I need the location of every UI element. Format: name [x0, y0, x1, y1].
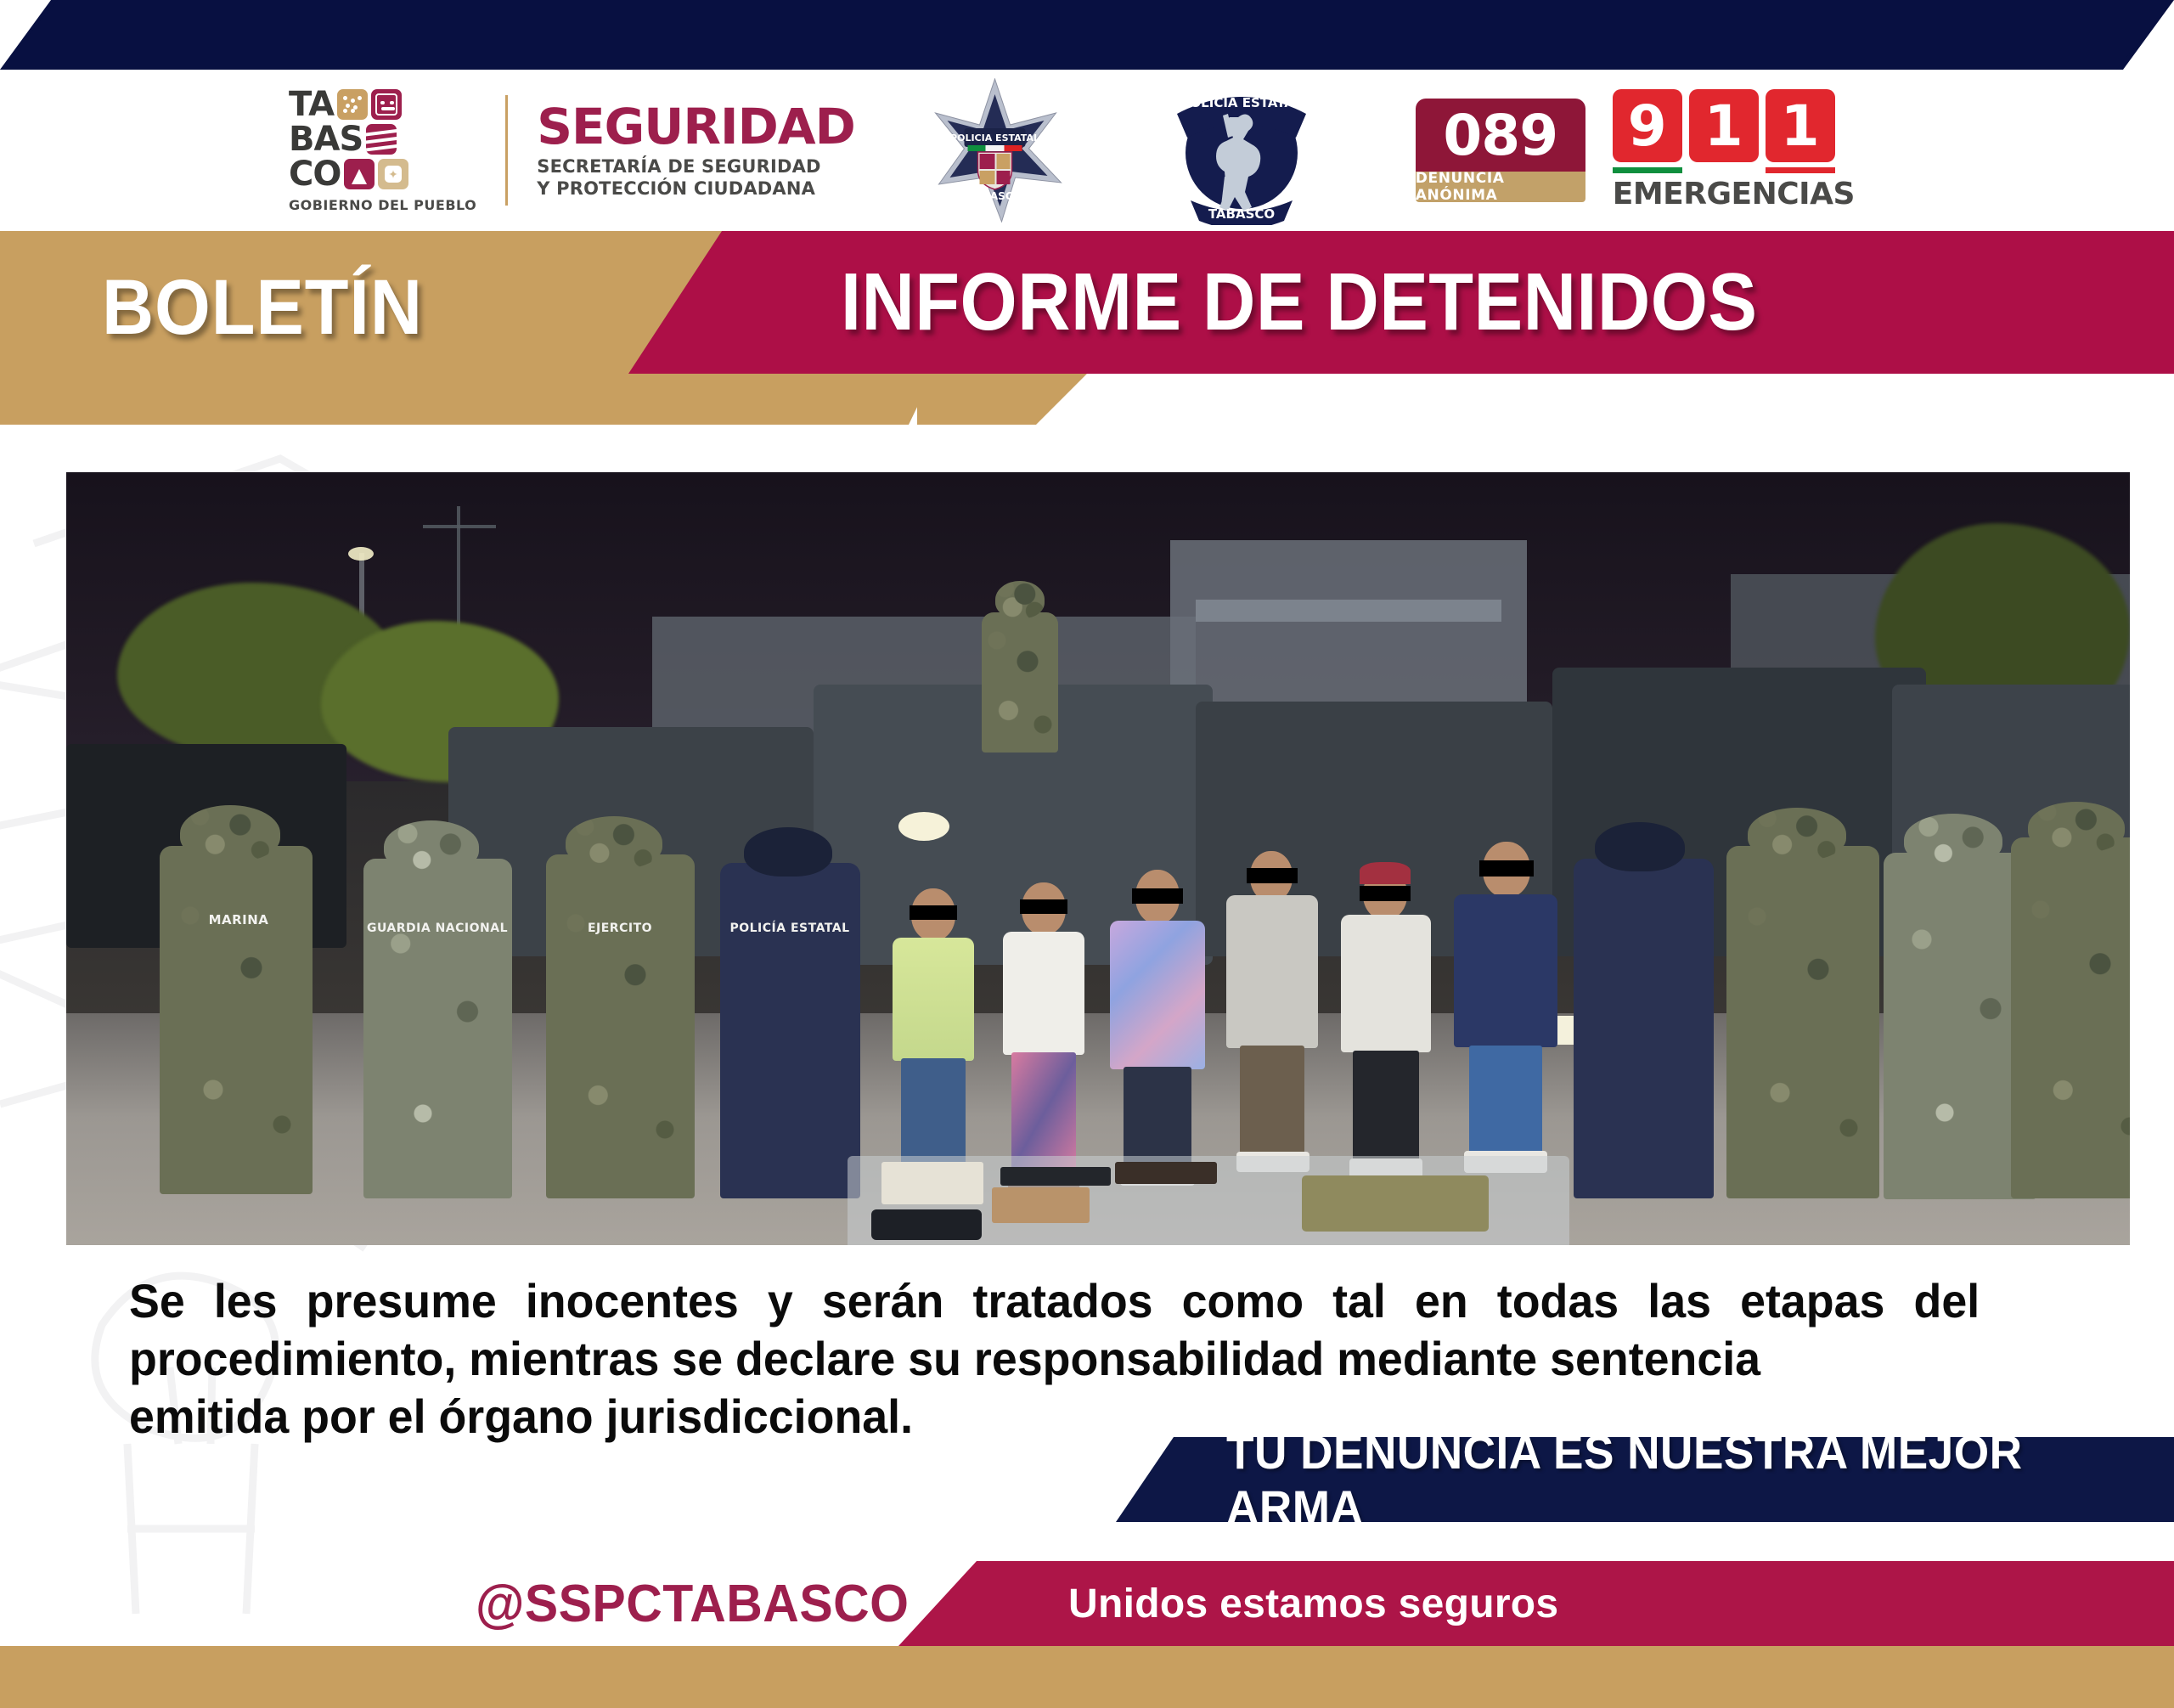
officer-ejercito-right-helmet-icon [1748, 808, 1846, 860]
detainee-5-legs [1353, 1051, 1419, 1163]
officer-guardia-nacional-left [363, 859, 512, 1198]
street-lamp-glow [348, 547, 374, 561]
hotline-089-number-box: 089 [1416, 99, 1585, 172]
detainee-2 [996, 882, 1090, 1198]
water-waves-glyph-icon [366, 124, 397, 155]
hotline-089-number: 089 [1443, 103, 1557, 168]
evidence-document [881, 1162, 983, 1204]
officer-on-roof [982, 612, 1058, 753]
flower-glyph-icon [378, 159, 408, 189]
officer-marina-right [2011, 837, 2130, 1198]
slogan-text: TU DENUNCIA ES NUESTRA MEJOR ARMA [1226, 1437, 2126, 1522]
tagline-text: Unidos estamos seguros [1068, 1561, 1558, 1646]
top-navy-bar-shape [0, 0, 2174, 70]
logo-strip: TA BAS CO [0, 70, 2174, 231]
body-paragraph-part2: emitida por el órgano jurisdiccional. [129, 1388, 1980, 1446]
logo-row-ta: TA [289, 88, 476, 121]
social-handle[interactable]: @SSPCTABASCO [476, 1561, 909, 1646]
officer-on-roof-helmet-icon [995, 581, 1045, 618]
evidence-box [992, 1187, 1090, 1223]
detainee-3-eye-censor-bar [1132, 888, 1183, 904]
bottom-gold-bar [0, 1646, 2174, 1708]
secretariat-wordmark: SEGURIDAD SECRETARÍA DE SEGURIDAD Y PROT… [537, 102, 855, 200]
star-badge-bottom-text: TABASCO [968, 190, 1022, 202]
detainee-5-torso [1341, 915, 1431, 1052]
logo-row-co: CO [289, 158, 476, 190]
detainee-5-eye-censor-bar [1360, 886, 1411, 901]
detainee-3-legs [1124, 1067, 1191, 1167]
officer-label-policia-estatal: POLICÍA ESTATAL [722, 922, 858, 935]
circle-badge-top-text: POLICÍA ESTATAL [1180, 94, 1303, 110]
detainee-6 [1450, 842, 1561, 1198]
officer-gn-left-helmet-icon [384, 820, 479, 873]
officer-marina-right-helmet-icon [2028, 802, 2125, 853]
officer-ejercito-left [546, 854, 695, 1198]
hotline-089-logo: 089 DENUNCIA ANÓNIMA [1416, 99, 1585, 202]
detainee-3 [1107, 870, 1208, 1201]
top-navy-bar [0, 0, 2174, 70]
logo-text-bas: BAS [289, 123, 363, 155]
secretariat-subtitle-line1: SECRETARÍA DE SEGURIDAD [537, 155, 855, 178]
star-badge-top-text: POLICIA ESTATAL [950, 132, 1039, 144]
officer-policia-estatal-right [1574, 859, 1714, 1198]
tagline-banner: Unidos estamos seguros [898, 1561, 2174, 1646]
detainee-5-red-cap-icon [1360, 862, 1411, 884]
transmission-crossarm [423, 525, 496, 528]
policia-estatal-circle-badge-icon: POLICÍA ESTATAL TABASCO [1165, 76, 1318, 225]
body-paragraph-part1: Se les presume inocentes y serán tratado… [129, 1272, 1980, 1388]
slogan-banner: TU DENUNCIA ES NUESTRA MEJOR ARMA [1116, 1437, 2174, 1522]
olmec-head-glyph-icon [371, 89, 402, 120]
evidence-firearm [1000, 1167, 1111, 1186]
hotline-911-logo: 9 1 1 EMERGENCIAS [1613, 89, 1842, 211]
banner-right-label: INFORME DE DETENIDOS [841, 250, 1757, 355]
hotline-911-caption: EMERGENCIAS [1613, 177, 1842, 211]
hotline-911-digit-2: 1 [1689, 89, 1759, 162]
detainee-2-torso [1003, 932, 1084, 1055]
officer-label-marina: MARINA [175, 914, 302, 927]
pyramid-glyph-icon [344, 159, 375, 189]
detainee-6-legs [1469, 1046, 1542, 1156]
bulletin-page: TA BAS CO [0, 0, 2174, 1708]
policia-estatal-star-badge-icon: POLICIA ESTATAL TABASCO [915, 78, 1076, 223]
officer-label-ejercito: EJERCITO [552, 922, 688, 935]
detainee-4-eye-censor-bar [1247, 868, 1298, 883]
officer-policia-estatal-left [720, 863, 860, 1198]
detainee-4-torso-hoodie [1226, 895, 1318, 1048]
detainee-1-eye-censor-bar [910, 905, 957, 920]
banner-gold-tail [917, 374, 1104, 425]
officer-marina-left-helmet-icon [180, 805, 280, 861]
hotline-089-caption: DENUNCIA ANÓNIMA [1416, 172, 1585, 202]
officer-label-guardia-nacional: GUARDIA NACIONAL [365, 922, 510, 935]
evidence-packages [1302, 1175, 1489, 1232]
officer-ejercito-right [1726, 846, 1879, 1198]
logo-caption: GOBIERNO DEL PUEBLO [289, 197, 476, 213]
officer-gn-right-helmet-icon [1904, 814, 2002, 866]
dots-glyph-icon [337, 89, 368, 120]
officer-pe-right-helmet-icon [1595, 822, 1685, 871]
detainee-4 [1221, 846, 1323, 1198]
logo-divider [505, 95, 508, 206]
tabasco-government-logo: TA BAS CO [289, 87, 476, 214]
detainee-3-torso [1110, 921, 1205, 1069]
detainee-1-torso [893, 938, 974, 1061]
detainee-2-eye-censor-bar [1020, 899, 1067, 914]
logo-text-ta: TA [289, 88, 334, 121]
secretariat-title: SEGURIDAD [537, 102, 855, 151]
evidence-bag [871, 1209, 982, 1240]
officer-ejercito-left-helmet-icon [566, 816, 662, 869]
presumption-of-innocence-text: Se les presume inocentes y serán tratado… [129, 1272, 1980, 1446]
logo-text-co: CO [289, 158, 341, 190]
hotline-911-digit-1: 9 [1613, 89, 1682, 162]
photo-scene: MARINA GUARDIA NACIONAL EJERCITO POLICÍA… [66, 472, 2130, 1245]
evidence-rifle [1115, 1162, 1217, 1184]
logo-row-bas: BAS [289, 123, 476, 155]
detainee-4-legs [1240, 1046, 1304, 1156]
circle-badge-bottom-text: TABASCO [1208, 206, 1275, 222]
secretariat-subtitle-line2: Y PROTECCIÓN CIUDADANA [537, 178, 855, 200]
detainee-6-torso [1454, 894, 1557, 1047]
title-banner: BOLETÍN INFORME DE DETENIDOS [0, 231, 2174, 425]
hotline-911-digit-3: 1 [1766, 89, 1835, 162]
officer-marina-left [160, 846, 313, 1194]
officer-pe-left-helmet-icon [744, 827, 832, 877]
window-row [1196, 600, 1501, 622]
hotline-911-flag-rules [1613, 167, 1842, 173]
banner-left-label: BOLETÍN [102, 256, 602, 358]
vehicle-headlight [898, 812, 949, 841]
detainee-5 [1336, 865, 1436, 1201]
detainees-photo: MARINA GUARDIA NACIONAL EJERCITO POLICÍA… [66, 472, 2130, 1245]
detainee-1 [886, 888, 979, 1198]
detainee-6-eye-censor-bar [1479, 860, 1534, 877]
